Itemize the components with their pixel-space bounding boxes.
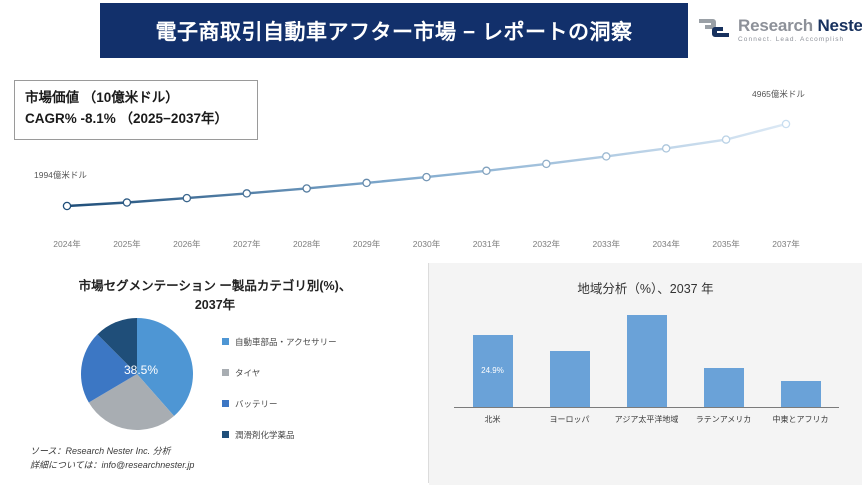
line-start-value-label: 1994億米ドル <box>34 169 87 181</box>
pie-legend: 自動車部品・アクセサリータイヤバッテリー潤滑剤化学薬品 <box>222 326 412 450</box>
line-data-point <box>63 202 70 209</box>
legend-swatch-icon <box>222 338 229 345</box>
bar-category-label: ヨーロッパ <box>550 414 590 425</box>
segmentation-title: 市場セグメンテーション ー製品カテゴリ別(%)、 2037年 <box>30 277 400 315</box>
bar-rect: 24.9% <box>473 335 513 407</box>
line-chart-x-axis: 2024年2025年2026年2027年2028年2029年2030年2031年… <box>0 238 862 256</box>
x-axis-year-label: 2029年 <box>353 238 380 250</box>
bar-rect <box>627 315 667 407</box>
bar-category-label: ラテンアメリカ <box>696 414 752 425</box>
line-data-point <box>183 195 190 202</box>
x-axis-year-label: 2027年 <box>233 238 260 250</box>
legend-swatch-icon <box>222 431 229 438</box>
source-line-2: 詳細については：info@researchnester.jp <box>30 459 194 473</box>
bar-category-label: 北米 <box>485 414 501 425</box>
x-axis-year-label: 2032年 <box>533 238 560 250</box>
line-data-point <box>663 145 670 152</box>
line-data-point <box>243 190 250 197</box>
pie-legend-item: 潤滑剤化学薬品 <box>222 419 412 450</box>
regional-analysis-panel: 地域分析（%）、2037 年 24.9%北米ヨーロッパアジア太平洋地域ラテンアメ… <box>429 263 862 485</box>
source-note: ソース：Research Nester Inc. 分析 詳細については：info… <box>30 445 194 472</box>
regional-analysis-title: 地域分析（%）、2037 年 <box>429 278 862 297</box>
legend-swatch-icon <box>222 400 229 407</box>
line-data-point <box>303 185 310 192</box>
line-data-point <box>722 136 729 143</box>
regional-bar-chart: 24.9%北米ヨーロッパアジア太平洋地域ラテンアメリカ中東とアフリカ <box>454 313 839 428</box>
line-series-path <box>67 124 786 206</box>
pie-legend-item: バッテリー <box>222 388 412 419</box>
brand-logo: Research Nester Connect. Lead. Accomplis… <box>697 10 857 50</box>
x-axis-year-label: 2037年 <box>772 238 799 250</box>
line-data-point <box>483 167 490 174</box>
x-axis-year-label: 2026年 <box>173 238 200 250</box>
pie-legend-label: タイヤ <box>235 367 260 379</box>
line-data-point <box>603 153 610 160</box>
x-axis-year-label: 2033年 <box>593 238 620 250</box>
x-axis-year-label: 2031年 <box>473 238 500 250</box>
bar-category-label: アジア太平洋地域 <box>615 414 679 425</box>
bar-column <box>627 315 667 407</box>
brand-nester-word: Nester <box>817 16 862 35</box>
bar-category-label: 中東とアフリカ <box>773 414 829 425</box>
bar-value-label: 24.9% <box>473 366 513 375</box>
pie-legend-item: 自動車部品・アクセサリー <box>222 326 412 357</box>
brand-research-word: Research <box>738 16 813 35</box>
legend-swatch-icon <box>222 369 229 376</box>
x-axis-year-label: 2034年 <box>652 238 679 250</box>
header-banner: 電子商取引自動車アフター市場 − レポートの洞察 <box>100 3 688 58</box>
segmentation-title-line1: 市場セグメンテーション ー製品カテゴリ別(%)、 <box>79 279 352 293</box>
line-data-point <box>123 199 130 206</box>
bar-chart-baseline <box>454 407 839 408</box>
brand-name: Research Nester <box>738 17 862 34</box>
bar-rect <box>550 351 590 407</box>
segmentation-title-line2: 2037年 <box>195 298 235 312</box>
segmentation-panel: 市場セグメンテーション ー製品カテゴリ別(%)、 2037年 38.5% 自動車… <box>0 263 428 485</box>
x-axis-year-label: 2030年 <box>413 238 440 250</box>
line-data-point <box>782 120 789 127</box>
x-axis-year-label: 2025年 <box>113 238 140 250</box>
pie-legend-label: 自動車部品・アクセサリー <box>235 336 337 348</box>
pie-legend-label: バッテリー <box>235 398 278 410</box>
brand-tagline: Connect. Lead. Accomplish <box>738 37 862 44</box>
bar-column <box>550 351 590 407</box>
x-axis-year-label: 2024年 <box>53 238 80 250</box>
line-data-markers <box>63 120 789 209</box>
research-nester-logo-icon <box>697 15 731 46</box>
source-line-1: ソース：Research Nester Inc. 分析 <box>30 445 194 459</box>
bar-column <box>704 368 744 407</box>
line-end-value-label: 4965億米ドル <box>752 88 805 100</box>
bar-rect <box>704 368 744 407</box>
bar-column: 24.9% <box>473 335 513 407</box>
pie-legend-label: 潤滑剤化学薬品 <box>235 429 295 441</box>
x-axis-year-label: 2028年 <box>293 238 320 250</box>
bar-rect <box>781 381 821 407</box>
pie-slice-value-label: 38.5% <box>124 363 158 377</box>
bar-column <box>781 381 821 407</box>
product-category-pie-chart: 38.5% <box>78 315 196 433</box>
line-data-point <box>363 179 370 186</box>
brand-text: Research Nester Connect. Lead. Accomplis… <box>738 17 862 44</box>
line-data-point <box>423 174 430 181</box>
x-axis-year-label: 2035年 <box>712 238 739 250</box>
line-data-point <box>543 160 550 167</box>
page-title: 電子商取引自動車アフター市場 − レポートの洞察 <box>156 16 633 46</box>
pie-legend-item: タイヤ <box>222 357 412 388</box>
market-value-line-chart <box>0 62 862 252</box>
